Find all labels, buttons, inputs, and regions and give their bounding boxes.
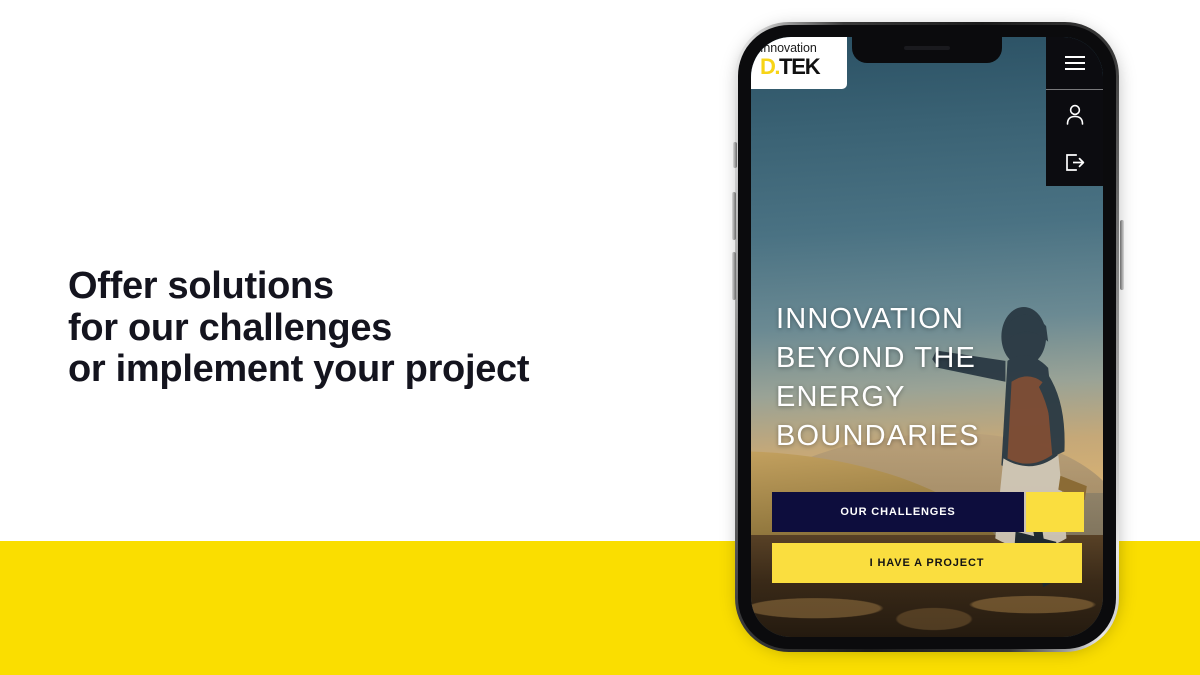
i-have-a-project-button[interactable]: I HAVE A PROJECT <box>772 543 1082 583</box>
slide-canvas: Offer solutions for our challenges or im… <box>0 0 1200 675</box>
hero-title: INNOVATION BEYOND THE ENERGY BOUNDARIES <box>776 300 980 456</box>
phone-power-button <box>1120 220 1124 290</box>
phone-earpiece <box>904 46 950 50</box>
hero-title-line-3: ENERGY <box>776 378 980 417</box>
logout-icon <box>1064 153 1085 172</box>
logo-tek-letters: TEK <box>779 56 819 78</box>
phone-mockup: Innovation D. TEK <box>735 22 1121 654</box>
slide-headline: Offer solutions for our challenges or im… <box>68 266 688 391</box>
cta-primary-row: OUR CHALLENGES <box>772 492 1082 532</box>
cta-accent-square[interactable] <box>1026 492 1084 532</box>
hero-cta-group: OUR CHALLENGES I HAVE A PROJECT <box>772 492 1082 583</box>
account-button[interactable] <box>1046 90 1103 138</box>
phone-volume-up-button <box>732 192 736 240</box>
logout-button[interactable] <box>1046 138 1103 186</box>
hero-title-line-2: BEYOND THE <box>776 339 980 378</box>
hero-title-line-4: BOUNDARIES <box>776 417 980 456</box>
menu-icon <box>1064 55 1086 71</box>
headline-line-1: Offer solutions <box>68 266 688 308</box>
user-icon <box>1065 104 1085 125</box>
menu-button[interactable] <box>1046 37 1103 89</box>
app-icon-rail <box>1046 37 1103 186</box>
our-challenges-button[interactable]: OUR CHALLENGES <box>772 492 1024 532</box>
phone-mute-switch <box>733 142 737 168</box>
logo-d-letter: D. <box>760 56 779 78</box>
phone-volume-down-button <box>732 252 736 300</box>
logo-innovation-text: Innovation <box>760 41 840 55</box>
hero-title-line-1: INNOVATION <box>776 300 980 339</box>
headline-line-3: or implement your project <box>68 349 688 391</box>
logo-dtek-wordmark: D. TEK <box>760 56 840 78</box>
phone-screen: Innovation D. TEK <box>751 37 1103 637</box>
headline-line-2: for our challenges <box>68 308 688 350</box>
app-logo[interactable]: Innovation D. TEK <box>751 37 847 89</box>
phone-notch <box>852 37 1002 63</box>
